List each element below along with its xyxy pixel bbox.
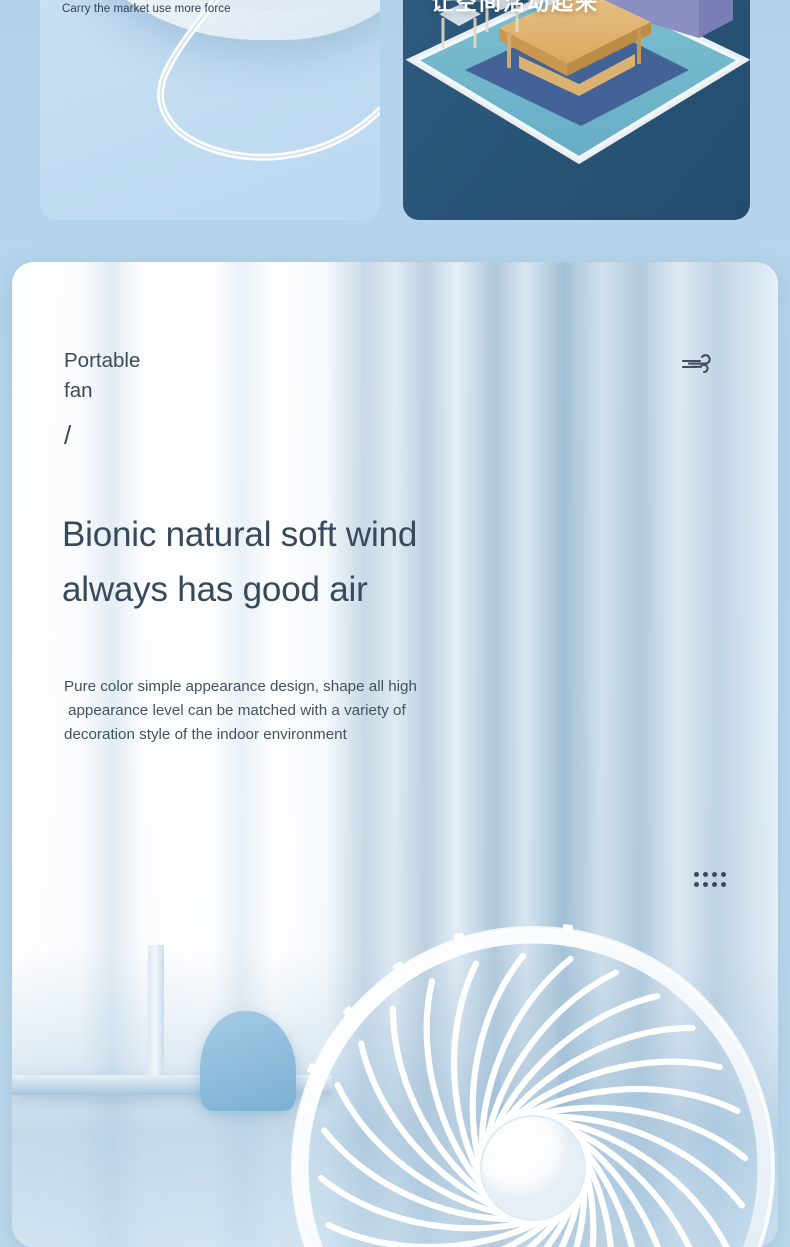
dot-grid-icon bbox=[694, 872, 726, 888]
headline-line-1: Bionic natural soft wind bbox=[62, 507, 532, 562]
card-left-caption: Carry the market use more force bbox=[62, 3, 231, 15]
top-card-row: Carry the market use more force bbox=[0, 0, 790, 220]
wind-icon bbox=[680, 350, 720, 382]
usb-cable-icon bbox=[62, 0, 380, 180]
headline-line-2: always has good air bbox=[62, 562, 532, 617]
divider-slash: / bbox=[64, 420, 71, 451]
body-line-3: decoration style of the indoor environme… bbox=[64, 723, 484, 747]
kicker-line-1: Portable bbox=[64, 346, 264, 376]
body-line-2: appearance level can be matched with a v… bbox=[64, 699, 484, 723]
card-right-title: 让空间活动起来 bbox=[431, 0, 731, 17]
kicker-line-2: fan bbox=[64, 376, 264, 406]
feature-headline: Bionic natural soft wind always has good… bbox=[62, 507, 532, 617]
feature-kicker: Portable fan bbox=[64, 346, 264, 406]
feature-body-copy: Pure color simple appearance design, sha… bbox=[64, 675, 484, 747]
portable-fan-product-image bbox=[283, 918, 783, 1247]
window-mullion bbox=[148, 945, 164, 1075]
card-portable-fan-closeup[interactable]: Carry the market use more force bbox=[40, 0, 380, 220]
card-living-room-scene[interactable]: 让空间活动起来 bbox=[403, 0, 750, 220]
isometric-room-icon bbox=[403, 0, 750, 220]
product-detail-page: Carry the market use more force bbox=[0, 0, 790, 1247]
body-line-1: Pure color simple appearance design, sha… bbox=[64, 675, 484, 699]
